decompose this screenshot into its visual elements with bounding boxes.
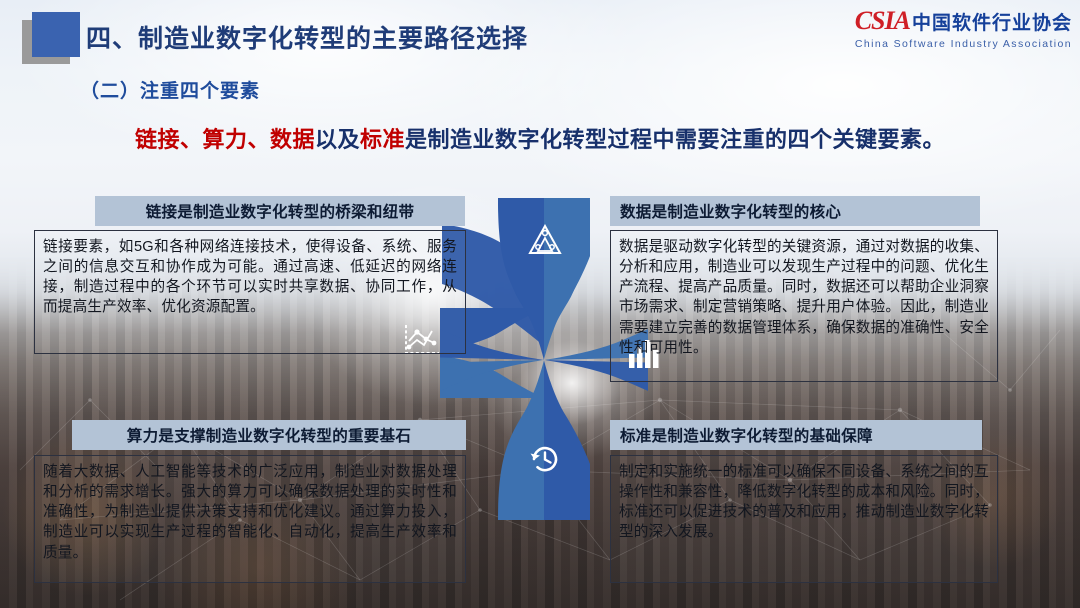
headline-rest: 是制造业数字化转型过程中需要注重的四个关键要素。 <box>405 127 945 152</box>
slide: 四、制造业数字化转型的主要路径选择 （二）注重四个要素 CSIA 中国软件行业协… <box>0 0 1080 608</box>
logo-acronym: CSIA <box>855 8 910 34</box>
page-title: 四、制造业数字化转型的主要路径选择 <box>86 19 528 55</box>
headline: 链接、算力、数据以及标准是制造业数字化转型过程中需要注重的四个关键要素。 <box>0 122 1080 154</box>
csia-logo: CSIA 中国软件行业协会 China Software Industry As… <box>855 8 1072 50</box>
title-marker-icon <box>32 12 80 57</box>
card-heading-link: 链接是制造业数字化转型的桥梁和纽带 <box>95 196 465 226</box>
logo-primary-row: CSIA 中国软件行业协会 <box>855 8 1072 34</box>
card-body-standard: 制定和实施统一的标准可以确保不同设备、系统之间的互操作性和兼容性，降低数字化转型… <box>610 455 998 583</box>
headline-highlight-one: 链接、算力、数据 <box>135 127 315 152</box>
headline-highlight-two: 标准 <box>360 127 405 152</box>
card-body-link: 链接要素，如5G和各种网络连接技术，使得设备、系统、服务之间的信息交互和协作成为… <box>34 230 466 354</box>
card-body-data: 数据是驱动数字化转型的关键资源，通过对数据的收集、分析和应用，制造业可以发现生产… <box>610 230 998 382</box>
headline-middle: 以及 <box>315 127 360 152</box>
network-triangle-icon <box>528 224 562 261</box>
logo-name-cn: 中国软件行业协会 <box>912 14 1072 33</box>
card-heading-compute: 算力是支撑制造业数字化转型的重要基石 <box>72 420 466 450</box>
logo-name-en: China Software Industry Association <box>855 39 1072 50</box>
clock-history-icon <box>528 442 562 481</box>
card-body-compute: 随着大数据、人工智能等技术的广泛应用，制造业对数据处理和分析的需求增长。强大的算… <box>34 455 466 583</box>
card-heading-data: 数据是制造业数字化转型的核心 <box>610 196 980 226</box>
card-heading-standard: 标准是制造业数字化转型的基础保障 <box>610 420 982 450</box>
page-subtitle: （二）注重四个要素 <box>80 76 260 103</box>
